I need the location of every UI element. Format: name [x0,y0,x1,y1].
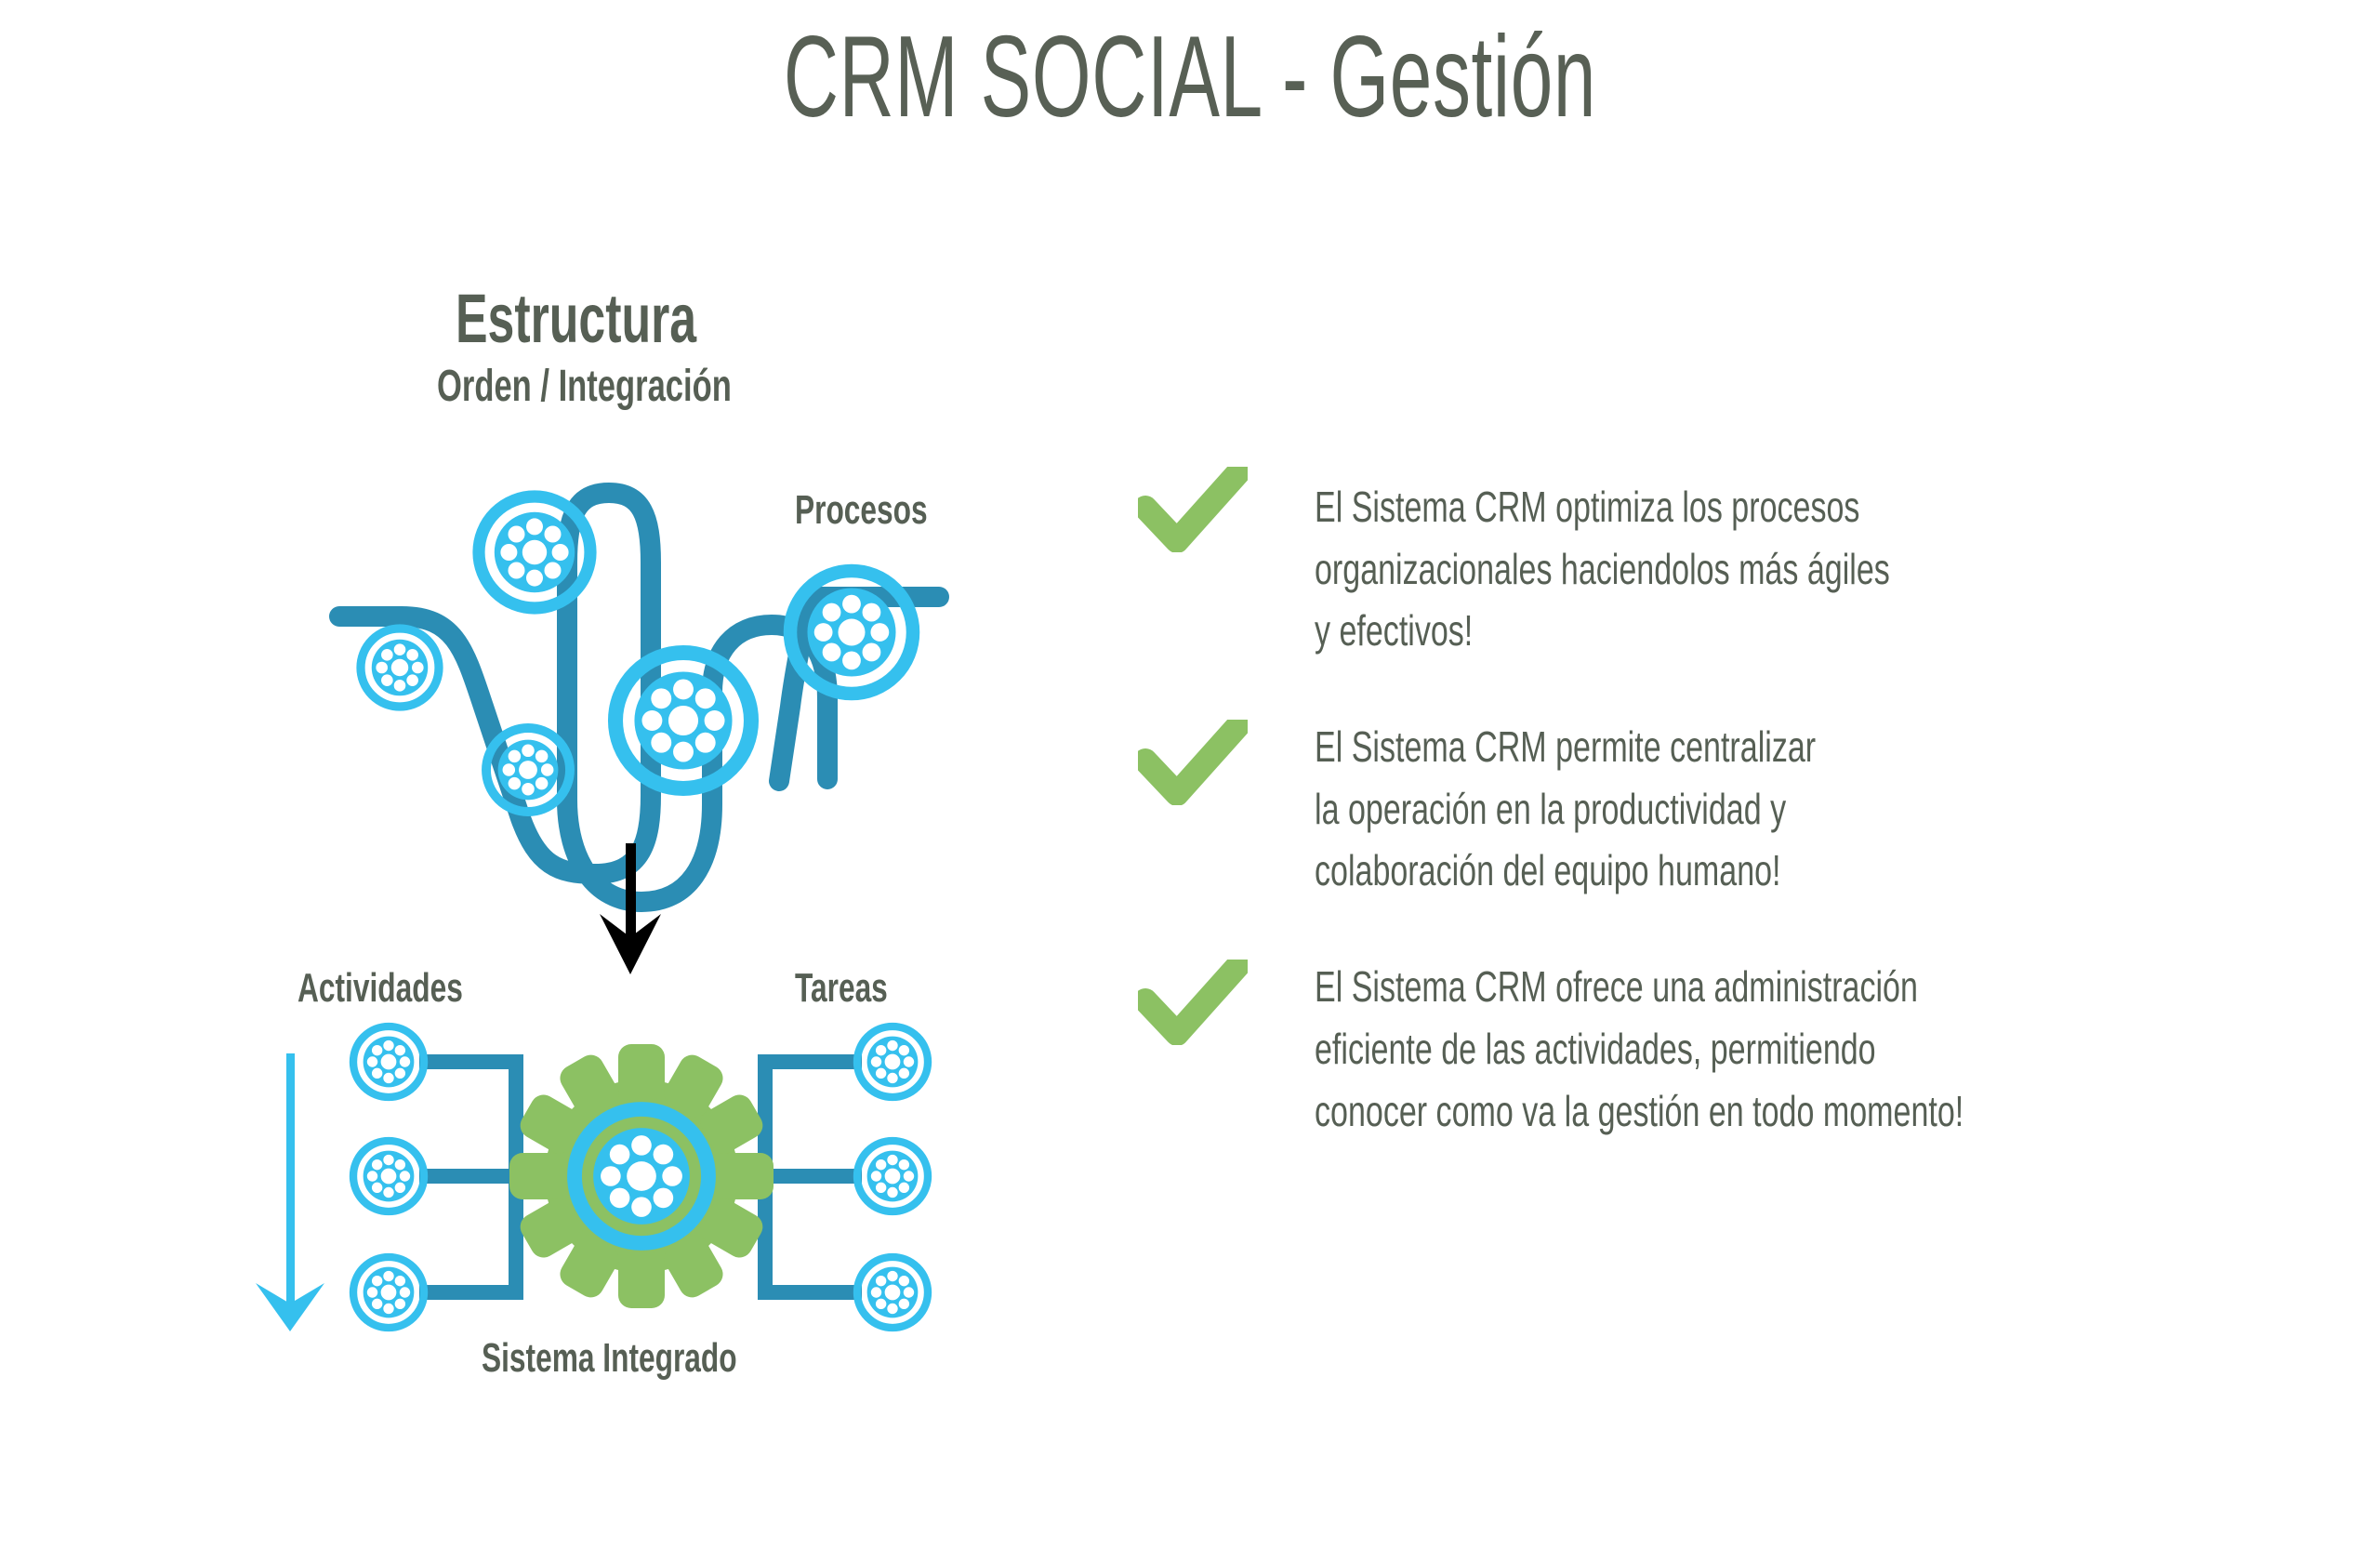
left-bracket [419,1054,577,1300]
list-item-text: El Sistema CRM ofrece una administración… [1315,956,2333,1142]
list-item: El Sistema CRM optimiza los procesos org… [1138,463,2347,662]
pulley-center-large [615,653,751,788]
belt-pulley-diagram [339,493,939,902]
pulley-actividad-1 [353,1026,424,1097]
label-sistema-integrado: Sistema Integrado [482,1335,737,1382]
pulley-actividad-3 [353,1257,424,1328]
list-item-text: El Sistema CRM optimiza los procesos org… [1315,463,2333,662]
label-procesos: Procesos [795,487,928,534]
list-item: El Sistema CRM ofrece una administración… [1138,956,2347,1142]
down-arrow-icon [600,843,661,974]
check-icon [1138,960,1248,1045]
page-title: CRM SOCIAL - Gestión [404,17,1976,138]
pulley-tarea-2 [857,1141,928,1211]
pulley-right [790,571,913,694]
slide-root: CRM SOCIAL - Gestión Estructura Orden / … [0,0,2380,1549]
check-icon [1138,467,1248,552]
belt-path [339,493,827,902]
pulley-actividad-2 [353,1141,424,1211]
right-bracket [705,1054,862,1300]
flow-down-arrow-icon [256,1053,324,1331]
gear-icon [509,1044,773,1308]
list-item-text: El Sistema CRM permite centralizar la op… [1315,716,2333,902]
belt-right-lead [805,597,939,604]
label-tareas: Tareas [795,965,888,1012]
list-item: El Sistema CRM permite centralizar la op… [1138,716,2347,902]
pulley-top [479,496,590,608]
pulley-tarea-1 [857,1026,928,1097]
label-actividades: Actividades [297,965,463,1012]
estructura-subheading: Orden / Integración [437,361,732,412]
gear-hub-pulley [575,1109,708,1243]
pulley-small-left [361,629,439,707]
check-icon [1138,720,1248,805]
pulley-tarea-3 [857,1257,928,1328]
belt-right-curve [779,610,807,781]
pulley-bottom-left [486,728,570,812]
estructura-heading: Estructura [456,279,696,358]
benefits-list: El Sistema CRM optimiza los procesos org… [1138,463,2347,1196]
gear-system-diagram [256,1026,928,1331]
